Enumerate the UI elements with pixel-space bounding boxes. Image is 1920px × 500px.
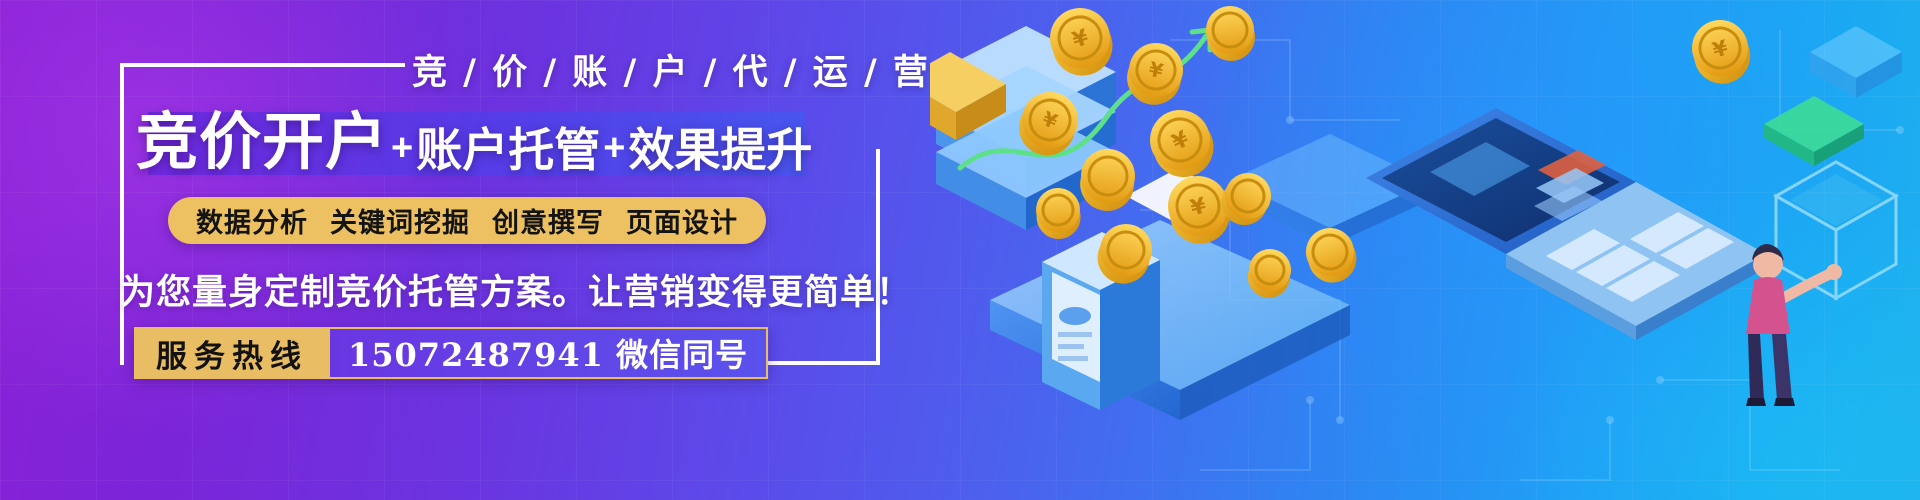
headline-main: 竞价开户	[136, 112, 388, 174]
service-item-4: 页面设计	[626, 201, 738, 240]
laptop-icon	[1366, 108, 1766, 340]
svg-text:¥: ¥	[1188, 193, 1210, 221]
hotline-bar: 服务热线 15072487941 微信同号	[134, 327, 768, 379]
circuit-lines-decoration	[1140, 0, 1920, 500]
svg-text:¥: ¥	[1146, 57, 1165, 84]
svg-text:¥: ¥	[1168, 126, 1193, 155]
person-icon	[1746, 244, 1842, 406]
promo-banner: 竞 / 价 / 账 / 户 / 代 / 运 / 营 竞价开户 + 账户托管 + …	[0, 0, 1920, 500]
service-item-3: 创意撰写	[492, 201, 604, 240]
tagline-text: 为您量身定制竞价托管方案。让营销变得更简单！	[120, 264, 912, 315]
cube-icon	[1776, 162, 1896, 298]
service-item-1: 数据分析	[196, 201, 308, 240]
phone-screen-content	[1058, 307, 1092, 361]
coins-icon: ¥ ¥ ¥ ¥	[1011, 0, 1571, 301]
background-glow-bottom-right	[1480, 180, 1920, 500]
copy-column: 竞 / 价 / 账 / 户 / 代 / 运 / 营 竞价开户 + 账户托管 + …	[0, 0, 1060, 500]
services-pill: 数据分析 关键词挖掘 创意撰写 页面设计	[168, 197, 766, 244]
svg-text:¥: ¥	[1069, 25, 1092, 54]
laptop-keyboard	[1546, 212, 1734, 302]
headline-sub-2: 效果提升	[628, 114, 812, 180]
headline-plus-2: +	[600, 127, 628, 170]
svg-text:¥: ¥	[1710, 35, 1731, 62]
headline: 竞价开户 + 账户托管 + 效果提升	[136, 104, 896, 182]
headline-plus-1: +	[388, 127, 416, 170]
paper-card-icon	[1126, 168, 1230, 224]
hotline-label: 服务热线	[134, 327, 330, 379]
hotline-number[interactable]: 15072487941 微信同号	[330, 327, 768, 379]
platform-secondary	[1230, 134, 1430, 246]
coin-floating-icon: ¥	[1685, 13, 1756, 90]
panel-blue-icon	[1810, 26, 1902, 98]
tech-illustration: ¥ ¥ ¥ ¥	[930, 0, 1920, 500]
eyebrow-text: 竞 / 价 / 账 / 户 / 代 / 运 / 营	[412, 44, 930, 95]
background-glow-right	[1180, 0, 1920, 500]
headline-sub-1: 账户托管	[416, 114, 600, 180]
service-item-2: 关键词挖掘	[330, 201, 470, 240]
laptop-screen-content	[1430, 142, 1606, 221]
panel-green-icon	[1764, 96, 1864, 166]
